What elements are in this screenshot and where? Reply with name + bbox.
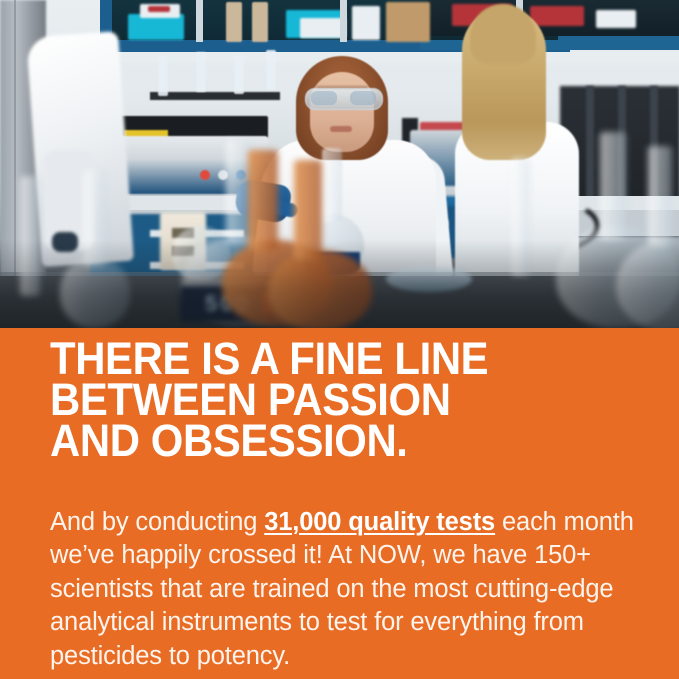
foreground-flask-right-1-neck bbox=[600, 132, 626, 240]
test-tube-1 bbox=[158, 56, 168, 96]
center-scientist-mouth bbox=[330, 126, 352, 132]
test-tube-3 bbox=[234, 54, 244, 94]
quality-tests-emphasis: 31,000 quality tests bbox=[264, 508, 495, 536]
foreground-flask-right-2-neck bbox=[648, 146, 672, 246]
cabinet-item-red-3 bbox=[530, 6, 584, 26]
test-tube-2 bbox=[196, 52, 206, 92]
test-tube-4 bbox=[266, 50, 276, 90]
erlenmeyer-flask-center-neck bbox=[322, 148, 342, 222]
marketing-banner: 500 THERE IS A FINE LINE BETWEEN PASSION… bbox=[0, 0, 679, 679]
test-tube-rack bbox=[150, 92, 280, 100]
headline-line-3: AND OBSESSION. bbox=[50, 420, 608, 461]
cabinet-item-white-3 bbox=[352, 6, 380, 40]
cabinet-divider-1 bbox=[196, 0, 203, 42]
goggles-lens-left bbox=[311, 91, 337, 105]
blonde-scientist-head bbox=[470, 4, 536, 64]
goggles-lens-right bbox=[350, 91, 376, 105]
cabinet-item-red-cap bbox=[148, 6, 170, 12]
center-scientist-face bbox=[310, 72, 374, 152]
headline: THERE IS A FINE LINE BETWEEN PASSION AND… bbox=[50, 338, 608, 461]
photo-bottom-vignette bbox=[0, 240, 679, 328]
body-paragraph: And by conducting 31,000 quality tests e… bbox=[50, 506, 640, 674]
cabinet-item-white-4 bbox=[596, 10, 636, 28]
orange-message-panel: THERE IS A FINE LINE BETWEEN PASSION AND… bbox=[0, 328, 679, 679]
headline-line-1: THERE IS A FINE LINE bbox=[50, 338, 608, 379]
headline-line-2: BETWEEN PASSION bbox=[50, 379, 608, 420]
cabinet-divider-2 bbox=[340, 0, 347, 42]
body-text-before: And by conducting bbox=[50, 508, 264, 536]
cabinet-item-bottle-1 bbox=[226, 2, 242, 42]
cabinet-item-bottle-2 bbox=[252, 2, 268, 42]
cabinet-item-cardboard-box bbox=[386, 2, 430, 42]
lab-photo: 500 bbox=[0, 0, 679, 328]
instrument-indicator-red bbox=[200, 170, 210, 180]
amber-flask-1-neck bbox=[248, 150, 278, 250]
cabinet-shelf-edge bbox=[100, 52, 679, 62]
